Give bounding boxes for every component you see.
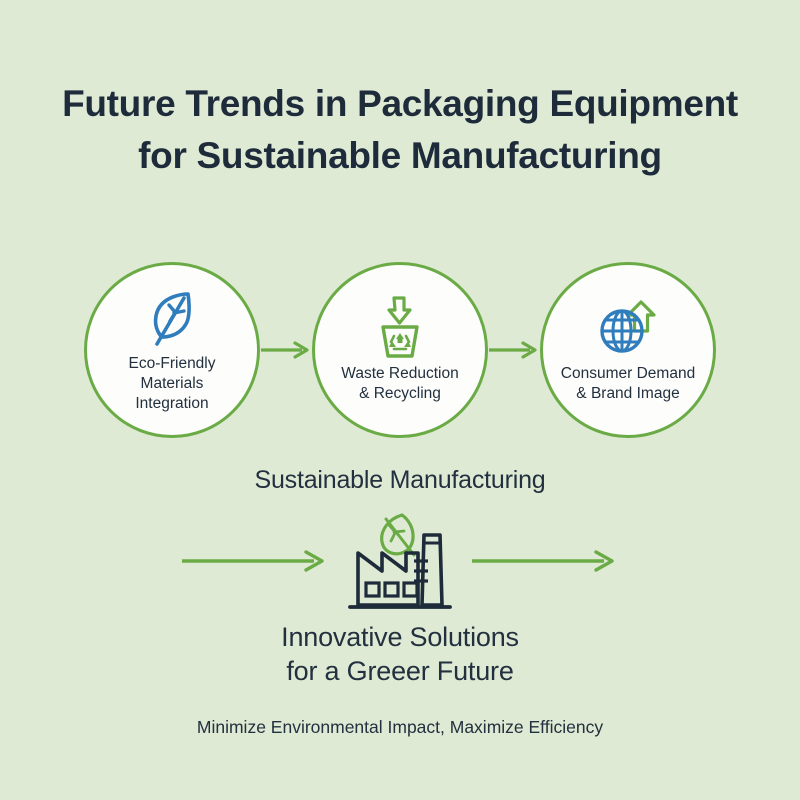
flow-node-label: Waste Reduction & Recycling [329,364,470,404]
factory-left-arrow [180,546,330,576]
bottom-headline: Innovative Solutions for a Greeer Future [0,620,800,688]
bottom-headline-line-2: for a Greeer Future [0,654,800,688]
factory-right-arrow [470,546,620,576]
bottom-headline-line-1: Innovative Solutions [0,620,800,654]
flow-node-label: Consumer Demand & Brand Image [549,364,707,404]
flow-node-eco-friendly-materials[interactable]: Eco-Friendly Materials Integration [84,262,260,438]
arrow-right-icon [488,340,540,360]
flow-connector-2 [488,339,540,361]
recycle-bin-icon [372,296,428,358]
arrow-right-icon [180,548,330,574]
globe-growth-icon [597,296,659,358]
page-title: Future Trends in Packaging Equipment for… [0,78,800,182]
arrow-right-icon [260,340,312,360]
flow-node-label-line-2: Materials [129,374,216,394]
process-flow-row: Eco-Friendly Materials Integration [0,260,800,440]
title-line-2: for Sustainable Manufacturing [0,130,800,182]
arrow-right-icon [470,548,620,574]
sustainable-manufacturing-caption: Sustainable Manufacturing [0,466,800,495]
factory-band [0,505,800,617]
flow-node-label-line-1: Eco-Friendly [129,354,216,374]
flow-node-label-line-1: Waste Reduction [341,364,458,384]
flow-node-label-line-2: & Recycling [341,384,458,404]
footer-tagline: Minimize Environmental Impact, Maximize … [0,717,800,738]
factory-leaf-icon [330,505,470,617]
leaf-icon [144,286,200,348]
flow-connector-1 [260,339,312,361]
flow-node-waste-reduction[interactable]: Waste Reduction & Recycling [312,262,488,438]
flow-node-consumer-demand[interactable]: Consumer Demand & Brand Image [540,262,716,438]
flow-node-label-line-3: Integration [129,394,216,414]
flow-node-label-line-2: & Brand Image [561,384,695,404]
flow-node-label: Eco-Friendly Materials Integration [117,354,228,414]
flow-node-label-line-1: Consumer Demand [561,364,695,384]
title-line-1: Future Trends in Packaging Equipment [0,78,800,130]
